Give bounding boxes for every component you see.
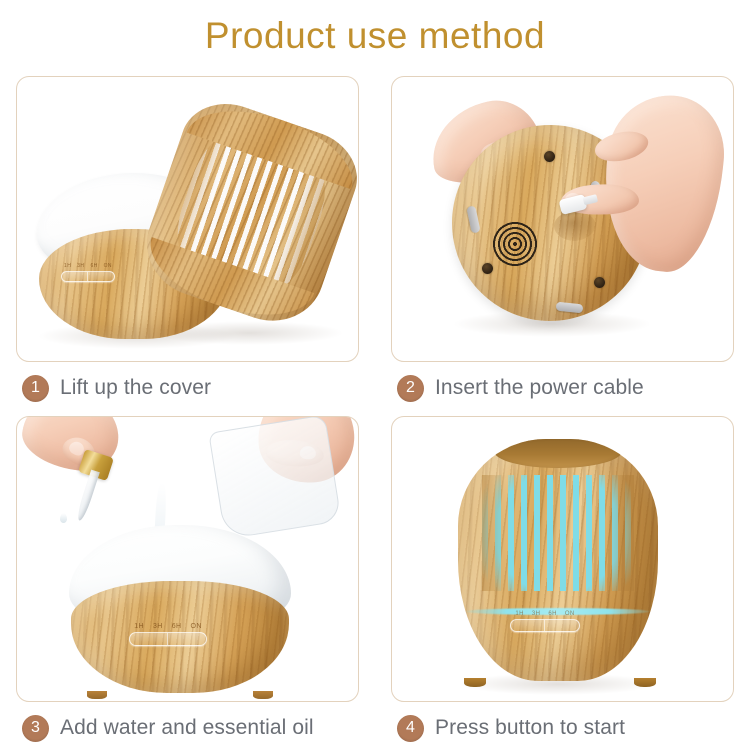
mist-button-4[interactable] xyxy=(511,620,545,631)
scene-add-water-and-oil: 1H 3H 6H ON xyxy=(17,417,358,701)
leg-left-4 xyxy=(464,678,486,687)
timer-label-3h: 3H xyxy=(77,263,84,269)
light-button-1[interactable] xyxy=(88,272,114,281)
step-image-panel-4: 1H 3H 6H ON xyxy=(391,416,734,702)
button-strip-1[interactable] xyxy=(61,271,115,282)
oil-droplet xyxy=(60,513,67,523)
base-legs-4 xyxy=(472,677,648,687)
light-button-4[interactable] xyxy=(545,620,579,631)
rubber-pad-left xyxy=(466,205,480,233)
rubber-pad-bottom xyxy=(556,302,584,314)
leg-right-3 xyxy=(253,691,273,699)
control-panel-1: 1H 3H 6H ON xyxy=(61,263,115,282)
measuring-cup xyxy=(208,416,341,540)
mist-button-1[interactable] xyxy=(62,272,88,281)
step-badge-2: 2 xyxy=(397,375,424,402)
step-caption-text-4: Press button to start xyxy=(435,716,625,740)
steps-grid: 1H 3H 6H ON xyxy=(0,68,750,750)
timer-labels-1: 1H 3H 6H ON xyxy=(64,263,112,269)
rubber-foot-left xyxy=(482,263,493,274)
scene-lift-cover: 1H 3H 6H ON xyxy=(17,77,358,361)
mist-button-3[interactable] xyxy=(130,633,168,645)
product-instruction-graphic: Product use method 1H 3H 6H xyxy=(0,0,750,750)
top-mist-opening xyxy=(494,439,622,468)
base-legs-3 xyxy=(87,689,273,699)
button-strip-3[interactable] xyxy=(129,632,207,646)
essential-oil-dropper xyxy=(69,435,125,545)
assembled-diffuser: 1H 3H 6H ON xyxy=(458,439,658,681)
control-panel-3: 1H 3H 6H ON xyxy=(129,623,207,646)
step-cell-1: 1H 3H 6H ON xyxy=(0,68,375,408)
step-cell-4: 1H 3H 6H ON xyxy=(375,408,750,748)
page-title: Product use method xyxy=(0,0,750,62)
rubber-foot-right xyxy=(594,277,605,288)
power-port xyxy=(554,211,596,241)
timer-label-3h-3: 3H xyxy=(153,623,163,630)
step-caption-2: 2 Insert the power cable xyxy=(397,368,644,408)
step-badge-4: 4 xyxy=(397,715,424,742)
light-button-3[interactable] xyxy=(168,633,206,645)
glow-ring xyxy=(466,608,650,615)
timer-label-on-3: ON xyxy=(190,623,201,630)
step-cell-2: 2 Insert the power cable xyxy=(375,68,750,408)
step-image-panel-2 xyxy=(391,76,734,362)
timer-label-on: ON xyxy=(104,263,112,269)
timer-labels-3: 1H 3H 6H ON xyxy=(134,623,202,630)
timer-label-6h-3: 6H xyxy=(172,623,182,630)
step-cell-3: 1H 3H 6H ON xyxy=(0,408,375,748)
rubber-foot-top xyxy=(544,151,555,162)
timer-label-1h-3: 1H xyxy=(134,623,144,630)
step-caption-1: 1 Lift up the cover xyxy=(22,368,211,408)
step-badge-1: 1 xyxy=(22,375,49,402)
leg-right-4 xyxy=(634,678,656,687)
timer-label-6h: 6H xyxy=(90,263,97,269)
step-image-panel-3: 1H 3H 6H ON xyxy=(16,416,359,702)
step-caption-text-1: Lift up the cover xyxy=(60,376,211,400)
wood-base-3: 1H 3H 6H ON xyxy=(71,581,289,693)
step-caption-text-2: Insert the power cable xyxy=(435,376,644,400)
step-badge-3: 3 xyxy=(22,715,49,742)
step-caption-text-3: Add water and essential oil xyxy=(60,716,314,740)
timer-label-1h: 1H xyxy=(64,263,71,269)
scene-insert-power-cable xyxy=(392,77,733,361)
dropper-glass-tube xyxy=(75,470,100,522)
step-image-panel-1: 1H 3H 6H ON xyxy=(16,76,359,362)
leg-left-3 xyxy=(87,691,107,699)
scene-press-button-glowing: 1H 3H 6H ON xyxy=(392,417,733,701)
step-caption-3: 3 Add water and essential oil xyxy=(22,708,314,748)
fan-vent-icon xyxy=(484,213,546,275)
step-caption-4: 4 Press button to start xyxy=(397,708,625,748)
button-strip-4[interactable] xyxy=(510,619,580,632)
slat-shading-4 xyxy=(482,475,634,591)
